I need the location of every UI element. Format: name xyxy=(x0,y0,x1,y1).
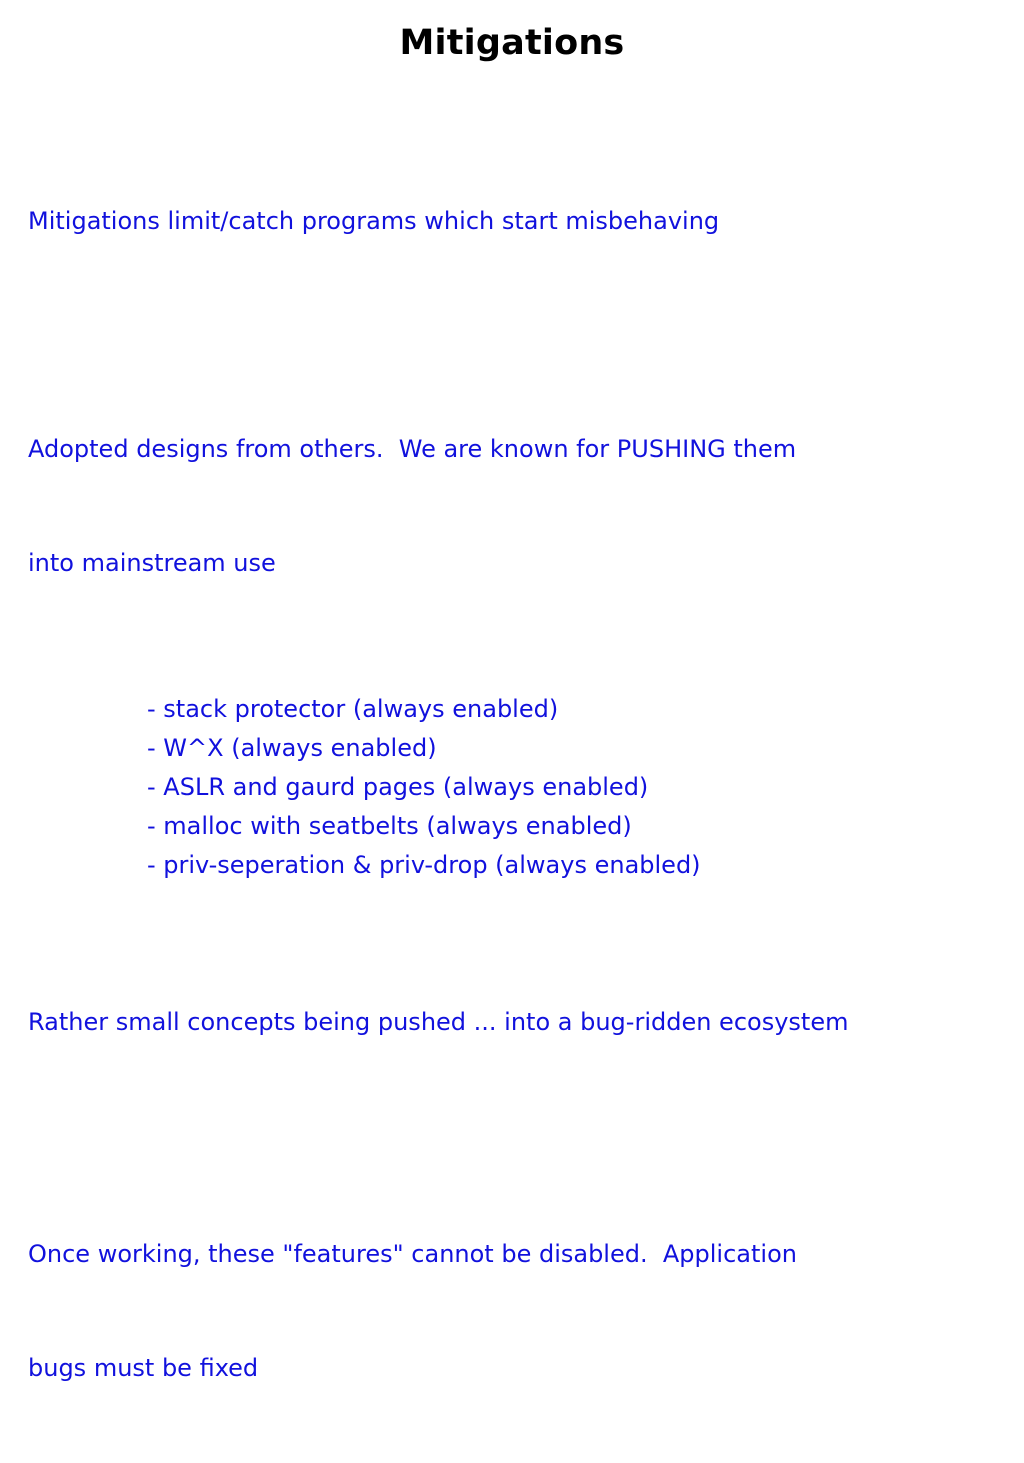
paragraph-intro-line-1: Mitigations limit/catch programs which s… xyxy=(28,202,994,240)
list-item: - malloc with seatbelts (always enabled) xyxy=(28,807,994,846)
list-item: - ASLR and gaurd pages (always enabled) xyxy=(28,768,994,807)
spacer xyxy=(28,1117,994,1159)
spacer xyxy=(28,316,994,354)
paragraph-adopted-designs-line-2: into mainstream use xyxy=(28,544,994,582)
paragraph-once-working-line-2: bugs must be fixed xyxy=(28,1349,994,1387)
paragraph-intro: Mitigations limit/catch programs which s… xyxy=(28,126,994,316)
paragraph-once-working-line-1: Once working, these "features" cannot be… xyxy=(28,1235,994,1273)
spacer xyxy=(28,885,994,927)
spacer xyxy=(28,658,994,690)
mitigation-list: - stack protector (always enabled) - W^X… xyxy=(28,690,994,885)
list-item: - priv-seperation & priv-drop (always en… xyxy=(28,846,994,885)
page-title: Mitigations xyxy=(0,22,1024,64)
list-item: - W^X (always enabled) xyxy=(28,729,994,768)
paragraph-adopted-designs: Adopted designs from others. We are know… xyxy=(28,354,994,658)
paragraph-small-concepts-line-1: Rather small concepts being pushed ... i… xyxy=(28,1003,994,1041)
slide-body: Mitigations limit/catch programs which s… xyxy=(28,126,994,1463)
presentation-slide: Mitigations Mitigations limit/catch prog… xyxy=(0,0,1024,768)
list-item: - stack protector (always enabled) xyxy=(28,690,994,729)
paragraph-adopted-designs-line-1: Adopted designs from others. We are know… xyxy=(28,430,994,468)
paragraph-once-working: Once working, these "features" cannot be… xyxy=(28,1159,994,1463)
paragraph-small-concepts: Rather small concepts being pushed ... i… xyxy=(28,927,994,1117)
